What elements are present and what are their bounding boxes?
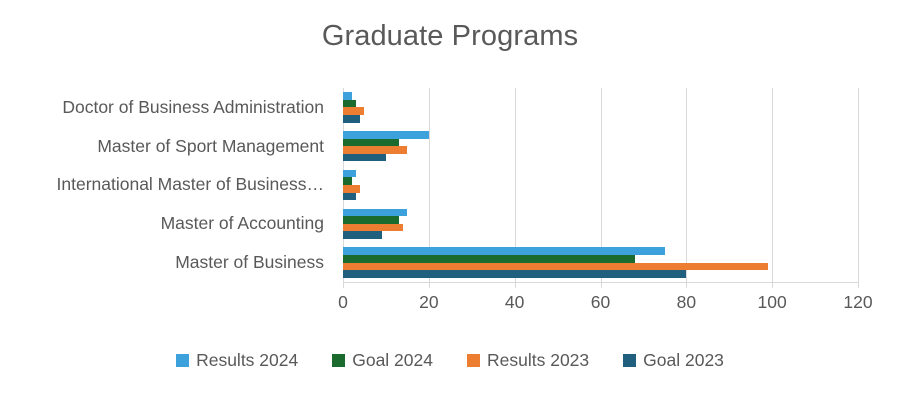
category-label: Master of Sport Management — [0, 127, 332, 166]
bar[interactable] — [343, 115, 360, 123]
x-axis-tick-label: 40 — [505, 292, 524, 313]
legend-item[interactable]: Results 2024 — [176, 350, 298, 371]
legend-swatch-icon — [332, 354, 345, 367]
x-axis-tick-label: 0 — [338, 292, 348, 313]
bar[interactable] — [343, 170, 356, 178]
bar-row — [343, 177, 858, 185]
bar[interactable] — [343, 263, 768, 271]
bar-group — [343, 88, 858, 127]
legend-item[interactable]: Results 2023 — [467, 350, 589, 371]
chart-legend: Results 2024Goal 2024Results 2023Goal 20… — [0, 350, 900, 371]
x-axis-tick — [429, 282, 430, 288]
x-axis-tick-label: 100 — [758, 292, 787, 313]
bar-group — [343, 127, 858, 166]
bar[interactable] — [343, 100, 356, 108]
bar[interactable] — [343, 146, 407, 154]
plot-area — [343, 88, 858, 282]
bar-row — [343, 231, 858, 239]
x-axis-tick — [772, 282, 773, 288]
bar-row — [343, 270, 858, 278]
legend-label: Goal 2023 — [643, 350, 724, 371]
bar[interactable] — [343, 270, 686, 278]
bar-group — [343, 204, 858, 243]
bar[interactable] — [343, 131, 429, 139]
chart-title: Graduate Programs — [0, 18, 900, 54]
x-axis-tick — [858, 282, 859, 288]
bar-row — [343, 216, 858, 224]
bar[interactable] — [343, 139, 399, 147]
legend-label: Results 2024 — [196, 350, 298, 371]
bar[interactable] — [343, 154, 386, 162]
x-axis-tick-label: 60 — [591, 292, 610, 313]
bar[interactable] — [343, 177, 352, 185]
bar[interactable] — [343, 107, 364, 115]
bar-group — [343, 243, 858, 282]
bar-group — [343, 166, 858, 205]
category-label: International Master of Business… — [0, 166, 332, 205]
bar[interactable] — [343, 231, 382, 239]
chart-container: Graduate Programs Doctor of Business Adm… — [0, 0, 900, 400]
bar[interactable] — [343, 224, 403, 232]
category-label: Master of Accounting — [0, 204, 332, 243]
legend-swatch-icon — [467, 354, 480, 367]
x-axis-tick — [686, 282, 687, 288]
legend-label: Results 2023 — [487, 350, 589, 371]
bar-row — [343, 139, 858, 147]
legend-label: Goal 2024 — [352, 350, 433, 371]
x-axis-tick-label: 120 — [843, 292, 872, 313]
bar[interactable] — [343, 255, 635, 263]
bar[interactable] — [343, 209, 407, 217]
bar-row — [343, 263, 858, 271]
bar[interactable] — [343, 247, 665, 255]
bar[interactable] — [343, 193, 356, 201]
x-axis-tick — [601, 282, 602, 288]
bar[interactable] — [343, 216, 399, 224]
legend-item[interactable]: Goal 2024 — [332, 350, 433, 371]
x-axis-tick-labels: 020406080100120 — [343, 292, 858, 316]
x-axis-ticks — [343, 282, 858, 288]
bar[interactable] — [343, 185, 360, 193]
legend-swatch-icon — [176, 354, 189, 367]
category-axis-labels: Doctor of Business AdministrationMaster … — [0, 88, 332, 282]
bar-row — [343, 170, 858, 178]
bar-row — [343, 115, 858, 123]
bar[interactable] — [343, 92, 352, 100]
category-label: Master of Business — [0, 243, 332, 282]
x-axis-tick-label: 80 — [677, 292, 696, 313]
bar-row — [343, 154, 858, 162]
bar-row — [343, 185, 858, 193]
category-label: Doctor of Business Administration — [0, 88, 332, 127]
bar-row — [343, 193, 858, 201]
bar-row — [343, 247, 858, 255]
x-axis-tick — [515, 282, 516, 288]
bar-row — [343, 209, 858, 217]
bar-row — [343, 255, 858, 263]
bar-row — [343, 224, 858, 232]
bar-row — [343, 131, 858, 139]
bar-row — [343, 92, 858, 100]
legend-swatch-icon — [623, 354, 636, 367]
bar-row — [343, 146, 858, 154]
x-axis-tick-label: 20 — [419, 292, 438, 313]
x-axis-tick — [343, 282, 344, 288]
bar-groups — [343, 88, 858, 282]
legend-item[interactable]: Goal 2023 — [623, 350, 724, 371]
gridline-120 — [858, 88, 859, 282]
bar-row — [343, 107, 858, 115]
bar-row — [343, 100, 858, 108]
